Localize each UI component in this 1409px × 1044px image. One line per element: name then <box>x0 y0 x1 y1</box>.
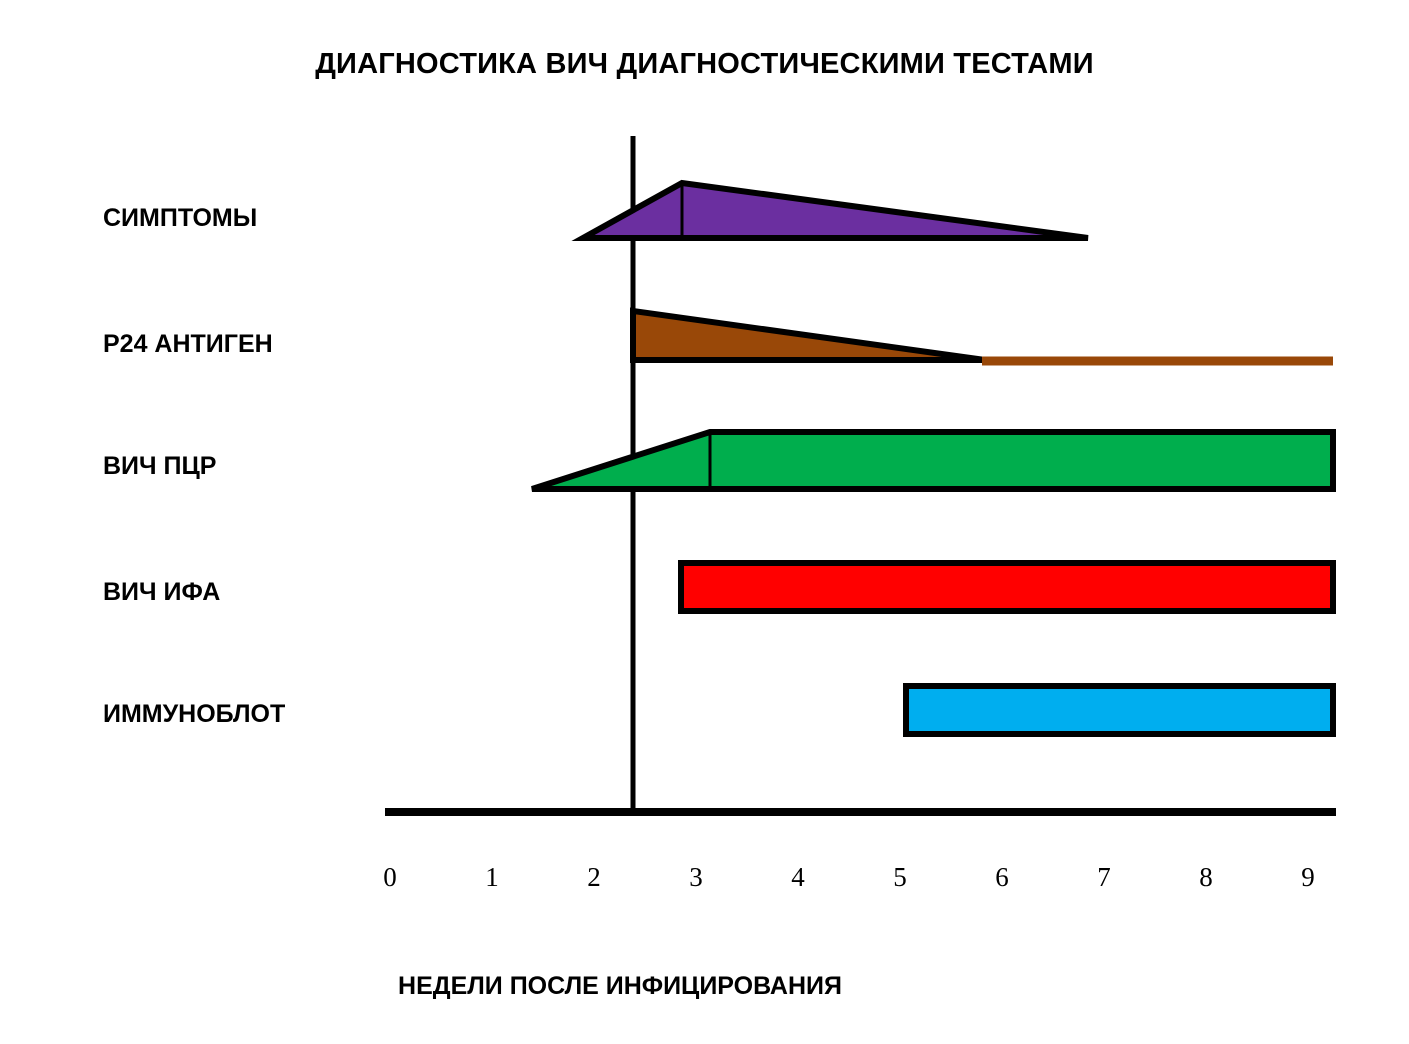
x-tick-4: 4 <box>778 862 818 893</box>
chart-canvas: ДИАГНОСТИКА ВИЧ ДИАГНОСТИЧЕСКИМИ ТЕСТАМИ… <box>0 0 1409 1044</box>
series-shape-immunoblot <box>906 686 1333 734</box>
series-shape-symptoms <box>583 183 1088 238</box>
x-tick-5: 5 <box>880 862 920 893</box>
x-tick-9: 9 <box>1288 862 1328 893</box>
series-shape-hiv-pcr <box>532 432 1333 489</box>
series-shape-hiv-elisa <box>681 563 1333 611</box>
series-shape-p24-antigen <box>633 311 985 360</box>
x-tick-0: 0 <box>370 862 410 893</box>
x-tick-7: 7 <box>1084 862 1124 893</box>
x-axis-title: НЕДЕЛИ ПОСЛЕ ИНФИЦИРОВАНИЯ <box>0 972 1240 1001</box>
x-tick-1: 1 <box>472 862 512 893</box>
x-tick-3: 3 <box>676 862 716 893</box>
x-tick-8: 8 <box>1186 862 1226 893</box>
x-tick-2: 2 <box>574 862 614 893</box>
x-tick-6: 6 <box>982 862 1022 893</box>
